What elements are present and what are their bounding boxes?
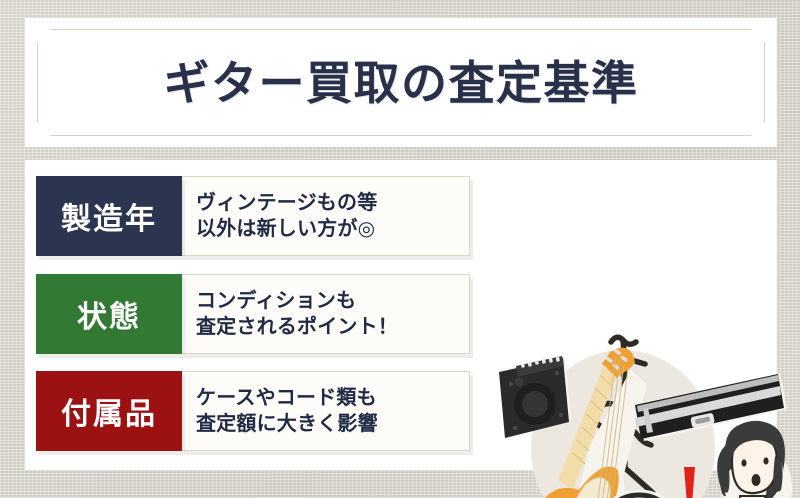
criteria-desc-line1: コンディションも [196, 288, 469, 314]
criteria-description-accessories: ケースやコード類も 査定額に大きく影響 [182, 371, 470, 451]
criteria-desc-line1: ケースやコード類も [196, 385, 469, 411]
criteria-description-manufacture-year: ヴィンテージもの等 以外は新しい方が◎ [182, 176, 470, 256]
criteria-label-condition: 状態 [36, 274, 182, 354]
criteria-desc-line2: 査定されるポイント！ [196, 314, 469, 340]
criteria-label-accessories: 付属品 [36, 371, 182, 451]
criteria-label-manufacture-year: 製造年 [36, 176, 182, 256]
poster-root: ギター買取の査定基準 製造年 ヴィンテージもの等 以外は新しい方が◎ 状態 コン… [0, 0, 800, 498]
criteria-desc-line2: 以外は新しい方が◎ [196, 216, 469, 242]
criteria-desc-line2: 査定額に大きく影響 [196, 411, 469, 437]
content-panel: 製造年 ヴィンテージもの等 以外は新しい方が◎ 状態 コンディションも 査定され… [25, 160, 777, 470]
criteria-row: 製造年 ヴィンテージもの等 以外は新しい方が◎ [36, 176, 470, 256]
criteria-row: 状態 コンディションも 査定されるポイント！ [36, 274, 470, 354]
criteria-description-condition: コンディションも 査定されるポイント！ [182, 274, 470, 354]
criteria-row: 付属品 ケースやコード類も 査定額に大きく影響 [36, 371, 470, 451]
title-card: ギター買取の査定基準 [25, 18, 777, 147]
page-title: ギター買取の査定基準 [25, 60, 777, 106]
criteria-desc-line1: ヴィンテージもの等 [196, 190, 469, 216]
guitar-appraisal-illustration [485, 320, 800, 498]
